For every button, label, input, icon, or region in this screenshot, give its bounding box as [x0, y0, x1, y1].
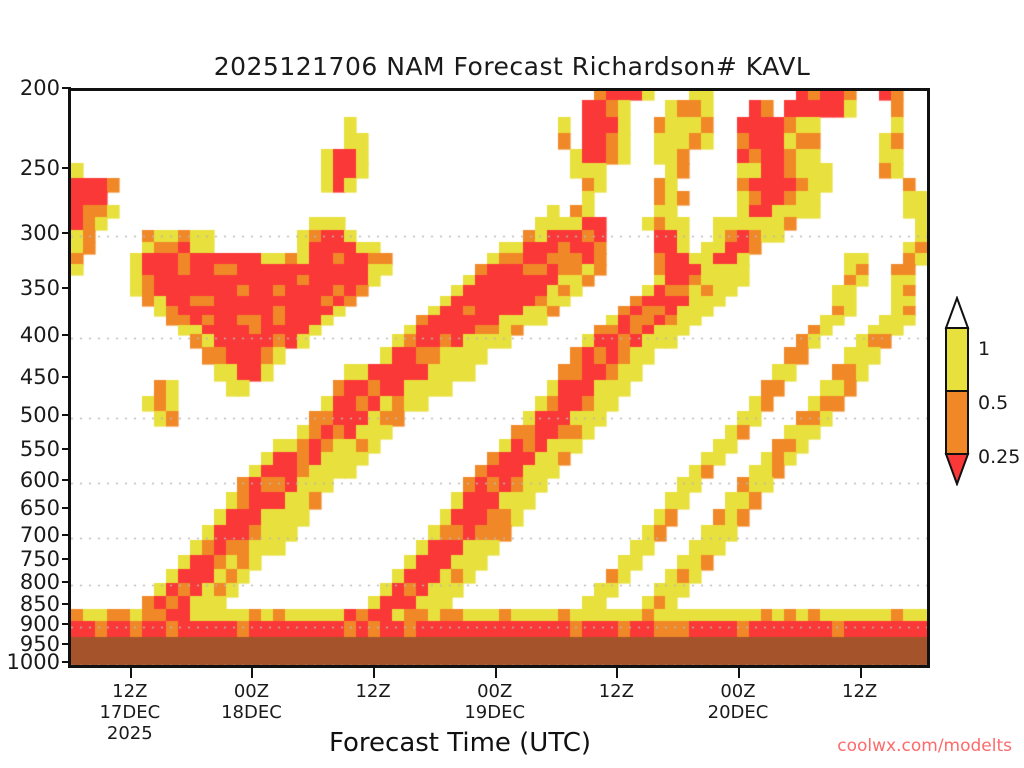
y-tick-mark [62, 334, 71, 336]
x-tick-mark [738, 668, 740, 678]
y-tick-mark [62, 287, 71, 289]
y-tick-label: 300 [20, 221, 60, 245]
heatmap-canvas [71, 91, 927, 665]
x-tick-mark [860, 668, 862, 678]
x-tick-mark [616, 668, 618, 678]
colorbar-tick-label: 1 [978, 338, 990, 360]
plot-area [68, 88, 930, 668]
y-tick-label: 200 [20, 76, 60, 100]
x-tick-label-line: 20DEC [708, 702, 769, 723]
x-tick-label: 00Z20DEC [708, 681, 769, 723]
x-tick-label-line: 18DEC [221, 702, 282, 723]
x-tick-label-line: 19DEC [464, 702, 525, 723]
y-tick-label: 700 [20, 523, 60, 547]
y-tick-mark [62, 558, 71, 560]
y-tick-mark [62, 581, 71, 583]
y-tick-label: 650 [20, 496, 60, 520]
x-tick-label-line: 12Z [599, 681, 634, 702]
colorbar: 10.50.25 [938, 296, 1024, 486]
x-tick-label-line: 00Z [464, 681, 525, 702]
x-tick-label: 00Z19DEC [464, 681, 525, 723]
y-tick-label: 500 [20, 403, 60, 427]
y-tick-label: 1000 [7, 650, 60, 674]
chart-root: 2025121706 NAM Forecast Richardson# KAVL… [0, 0, 1024, 768]
y-tick-label: 250 [20, 156, 60, 180]
y-tick-mark [62, 167, 71, 169]
y-tick-mark [62, 603, 71, 605]
y-tick-label: 750 [20, 547, 60, 571]
y-tick-label: 800 [20, 570, 60, 594]
x-tick-label: 12Z [599, 681, 634, 702]
x-tick-label: 12Z [842, 681, 877, 702]
chart-title: 2025121706 NAM Forecast Richardson# KAVL [0, 52, 1024, 81]
x-tick-mark [251, 668, 253, 678]
y-tick-label: 600 [20, 468, 60, 492]
y-tick-mark [62, 507, 71, 509]
y-tick-mark [62, 479, 71, 481]
y-axis: 2002503003504004505005506006507007508008… [0, 88, 60, 668]
y-tick-label: 450 [20, 365, 60, 389]
y-tick-label: 550 [20, 437, 60, 461]
y-tick-mark [62, 661, 71, 663]
x-tick-label: 12Z [355, 681, 390, 702]
x-tick-mark [373, 668, 375, 678]
colorbar-tick-label: 0.25 [978, 446, 1020, 468]
y-tick-mark [62, 414, 71, 416]
colorbar-tick-label: 0.5 [978, 392, 1008, 414]
x-tick-label-line: 2025 [99, 723, 160, 744]
x-tick-label-line: 00Z [221, 681, 282, 702]
y-tick-mark [62, 232, 71, 234]
x-tick-label-line: 12Z [842, 681, 877, 702]
colorbar-swatches [938, 296, 978, 486]
y-tick-mark [62, 623, 71, 625]
x-tick-label: 12Z17DEC2025 [99, 681, 160, 744]
y-tick-label: 350 [20, 276, 60, 300]
x-tick-label-line: 00Z [708, 681, 769, 702]
watermark: coolwx.com/modelts [837, 736, 1012, 756]
y-tick-mark [62, 376, 71, 378]
x-tick-label-line: 17DEC [99, 702, 160, 723]
x-tick-label: 00Z18DEC [221, 681, 282, 723]
x-tick-label-line: 12Z [355, 681, 390, 702]
y-tick-mark [62, 643, 71, 645]
y-tick-label: 400 [20, 323, 60, 347]
x-tick-label-line: 12Z [99, 681, 160, 702]
x-axis-title: Forecast Time (UTC) [180, 728, 740, 758]
y-tick-mark [62, 448, 71, 450]
x-tick-mark [130, 668, 132, 678]
y-tick-mark [62, 87, 71, 89]
y-tick-mark [62, 534, 71, 536]
x-tick-mark [495, 668, 497, 678]
